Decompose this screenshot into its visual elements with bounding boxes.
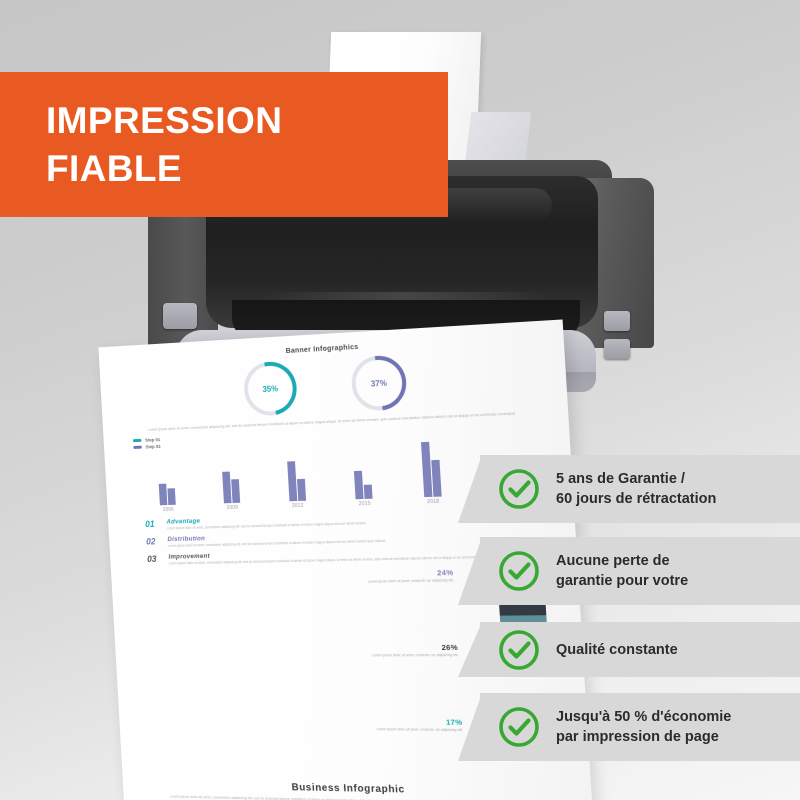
x-axis-tick-label: 2012	[265, 502, 332, 510]
feature-label-warranty: 5 ans de Garantie / 60 jours de rétracta…	[556, 469, 716, 509]
feature-label-no-warranty-loss: Aucune perte de garantie pour votre	[556, 551, 688, 591]
printer-button-right-2	[604, 339, 630, 359]
headline-banner: IMPRESSION FIABLE	[0, 72, 448, 217]
bar-group	[262, 460, 330, 502]
printer-button-left	[163, 303, 197, 329]
x-axis-tick-label: 2009	[200, 504, 265, 512]
donut-chart-1: 35%	[243, 360, 298, 416]
step-number-02: 02	[146, 537, 161, 547]
funnel-text-3: Lorem ipsum dolor sit amet, consecte- tu…	[149, 724, 463, 733]
check-circle-icon	[498, 706, 540, 748]
bar-step-02	[431, 460, 441, 497]
feature-box-no-warranty-loss[interactable]: Aucune perte de garantie pour votre	[480, 537, 800, 605]
bar-step-02	[297, 479, 306, 502]
bar-group	[136, 483, 200, 507]
check-circle-icon	[498, 629, 540, 671]
printer-button-right-1	[604, 311, 630, 331]
bar-step-01	[222, 472, 231, 504]
step-number-03: 03	[147, 554, 162, 564]
donut-value-2: 37%	[350, 354, 408, 411]
bar-step-01	[421, 442, 432, 498]
donut-value-1: 35%	[243, 360, 298, 416]
legend-label-step-02: Step 02	[145, 444, 160, 449]
legend-swatch-step-01	[133, 439, 141, 442]
check-circle-icon	[498, 550, 540, 592]
bar-group	[198, 471, 264, 505]
funnel-labels: 24% Lorem ipsum dolor sit amet, consecte…	[141, 568, 504, 781]
funnel-row-1: 24% Lorem ipsum dolor sit amet, consecte…	[141, 568, 458, 640]
x-axis-tick-label: 2018	[399, 498, 469, 506]
bar-step-01	[287, 462, 297, 502]
bar-group	[329, 470, 398, 500]
step-number-01: 01	[145, 519, 160, 529]
feature-label-savings: Jusqu'à 50 % d'économie par impression d…	[556, 707, 731, 747]
legend-swatch-step-02	[133, 446, 141, 449]
check-circle-icon	[498, 468, 540, 510]
product-promo-image: Banner Infographics 35% 37% Lorem ipsum …	[0, 0, 800, 800]
funnel-text-2: Lorem ipsum dolor sit amet, consecte- tu…	[145, 652, 458, 659]
bar-step-02	[168, 488, 176, 505]
feature-box-warranty[interactable]: 5 ans de Garantie / 60 jours de rétracta…	[480, 455, 800, 523]
x-axis-tick-label: 2015	[331, 500, 399, 508]
legend-label-step-01: Step 01	[145, 438, 160, 443]
feature-box-savings[interactable]: Jusqu'à 50 % d'économie par impression d…	[480, 693, 800, 761]
feature-label-quality: Qualité constante	[556, 640, 678, 660]
bar-step-01	[354, 471, 364, 499]
funnel-row-2: 26% Lorem ipsum dolor sit amet, consecte…	[145, 643, 462, 713]
x-axis-tick-label: 2006	[137, 506, 201, 514]
feature-box-quality[interactable]: Qualité constante	[480, 622, 800, 677]
donut-chart-2: 37%	[350, 354, 408, 411]
bar-group	[395, 440, 468, 498]
headline-line-2: FIABLE	[46, 145, 448, 192]
funnel-row-3: 17% Lorem ipsum dolor sit amet, consecte…	[149, 716, 466, 775]
bar-step-01	[159, 484, 168, 506]
bar-step-02	[364, 485, 373, 500]
bar-step-02	[231, 480, 240, 504]
headline-line-1: IMPRESSION	[46, 97, 448, 144]
